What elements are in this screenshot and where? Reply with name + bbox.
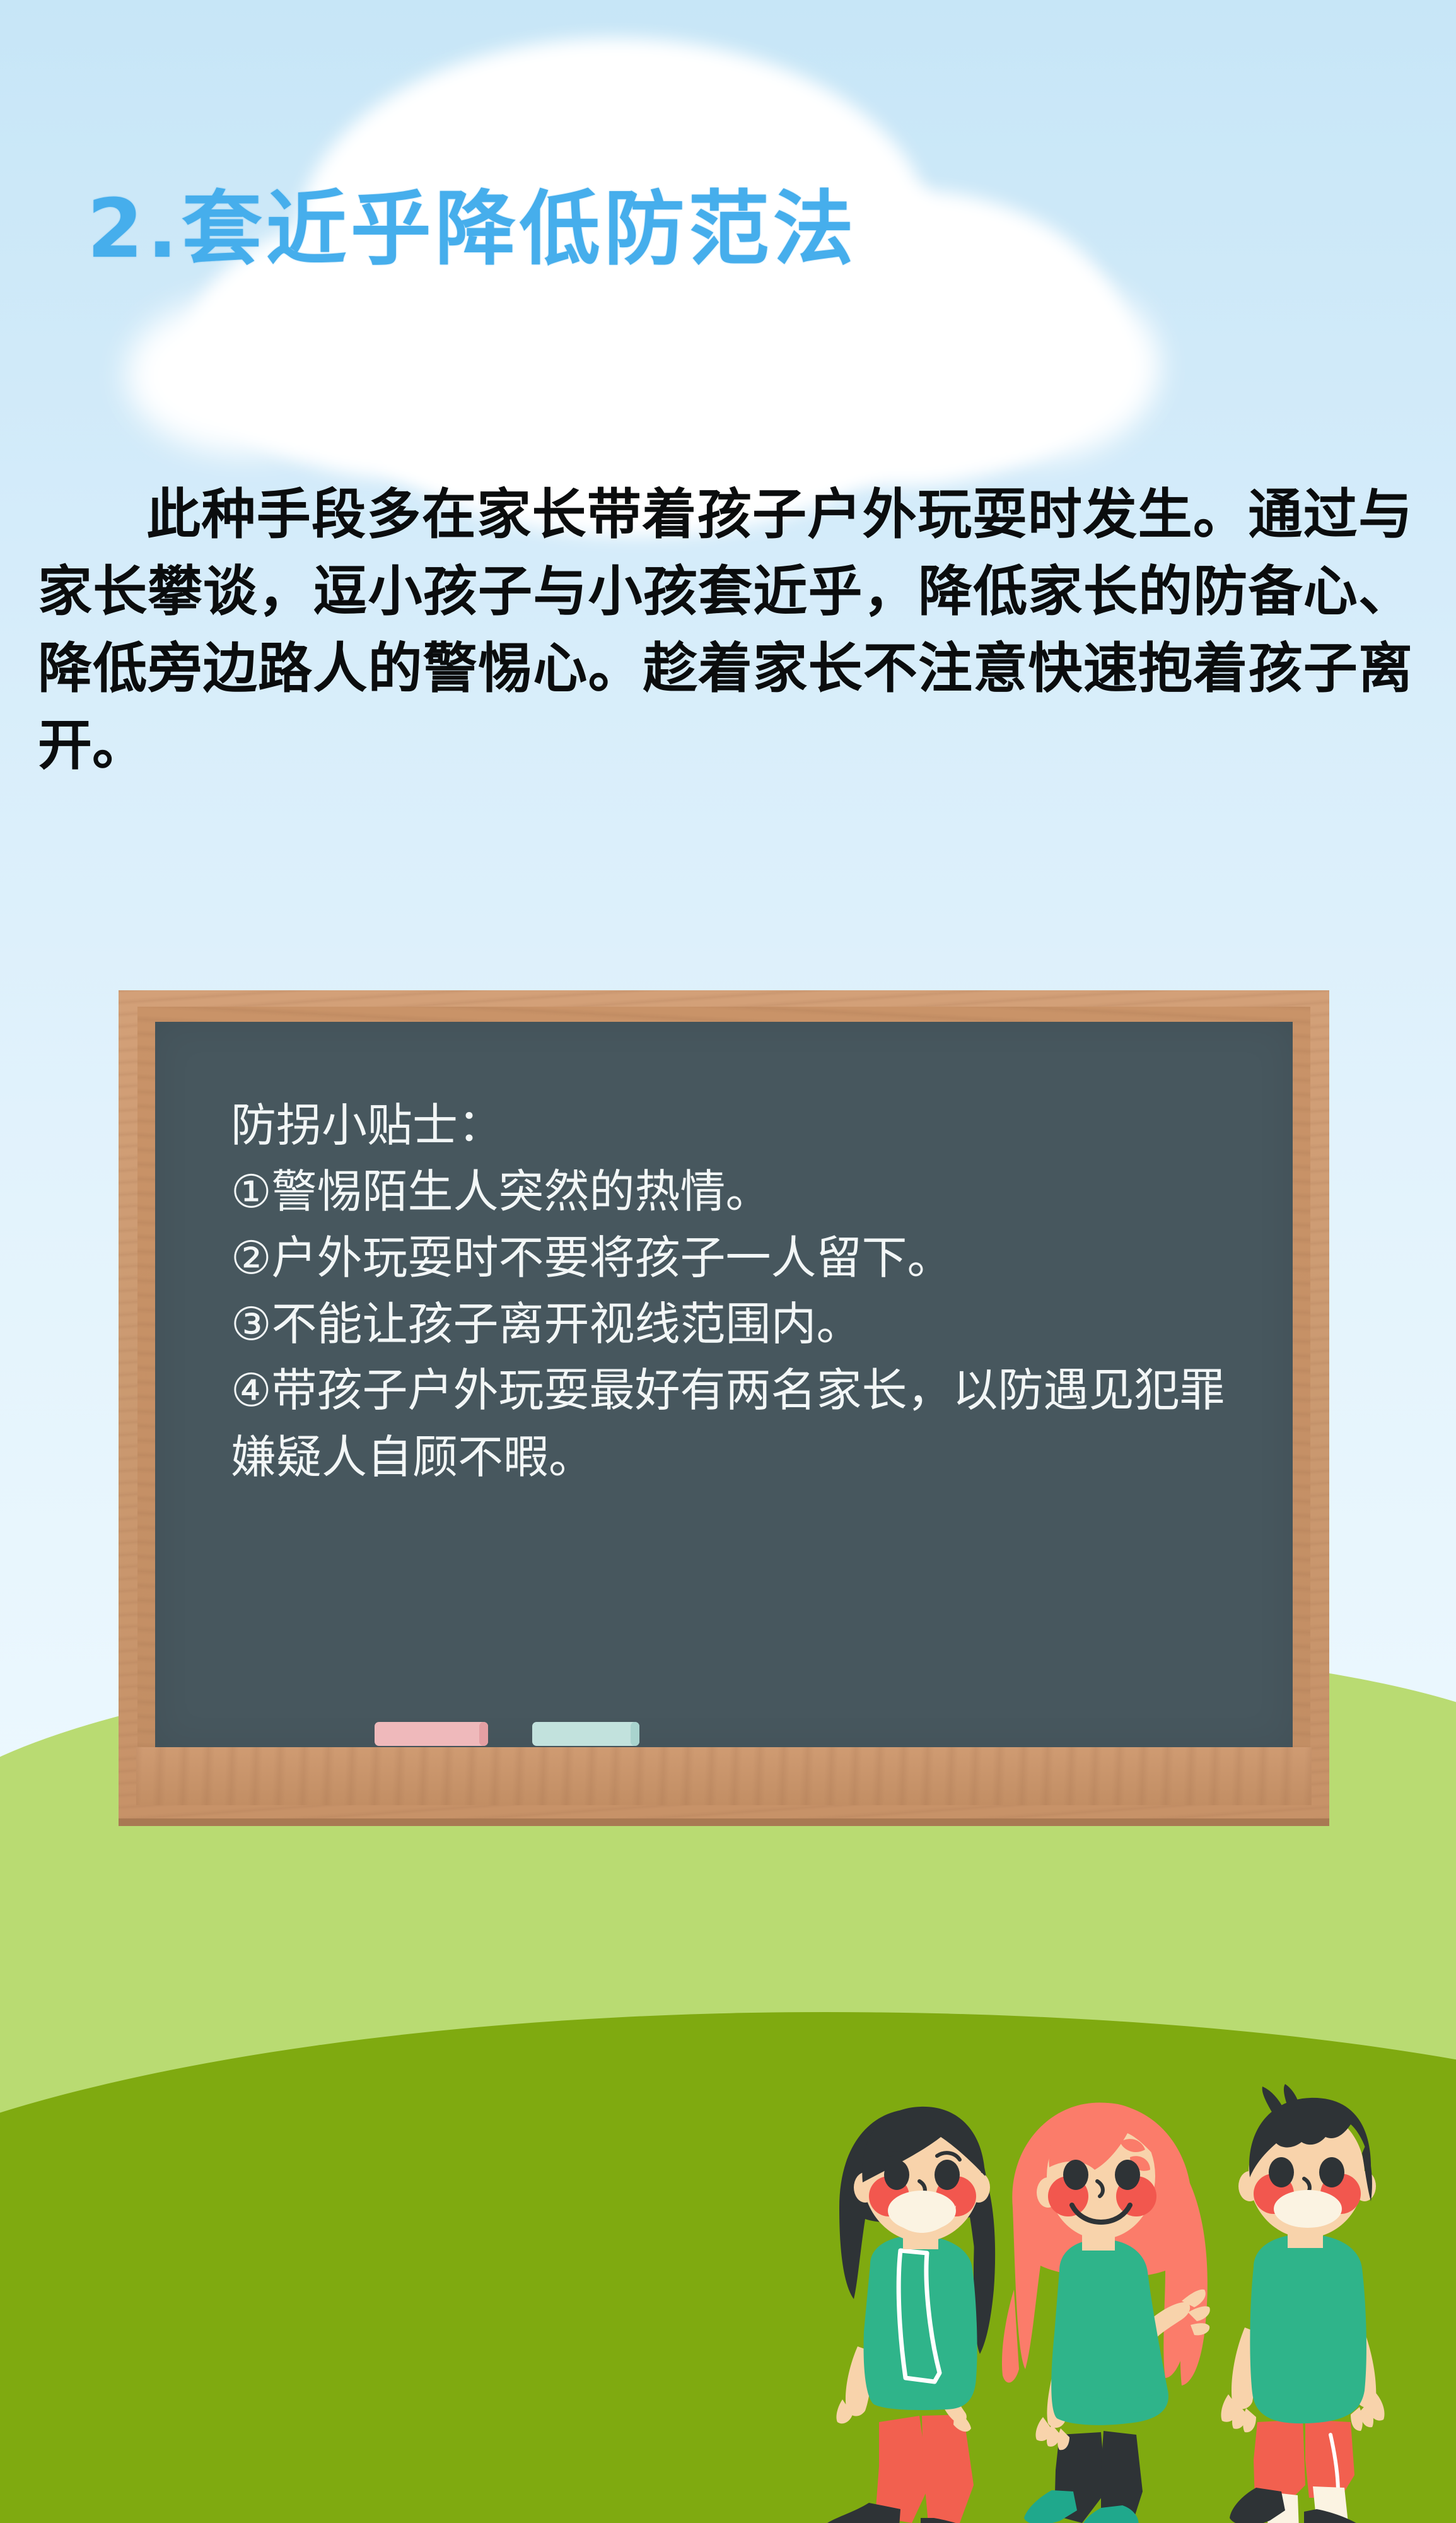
blackboard: 防拐小贴士： ①警惕陌生人突然的热情。 ②户外玩耍时不要将孩子一人留下。 ③不能… (119, 990, 1329, 1823)
blackboard-chalk-tray (136, 1747, 1312, 1805)
blackboard-tip-4: ④带孩子户外玩耍最好有两名家长，以防遇见犯罪嫌疑人自顾不暇。 (231, 1357, 1249, 1490)
children-svg (805, 2081, 1456, 2523)
pink-chalk-icon (375, 1722, 488, 1746)
blackboard-surface: 防拐小贴士： ①警惕陌生人突然的热情。 ②户外玩耍时不要将孩子一人留下。 ③不能… (155, 1022, 1293, 1748)
cloud-blob-far-right (895, 271, 1160, 460)
child-girl-black-hair (827, 2107, 995, 2523)
three-children-illustration (805, 2081, 1456, 2523)
page-title: 2.套近乎降低防范法 (87, 189, 858, 270)
chalk-group (155, 1719, 1293, 1746)
blackboard-tip-3: ③不能让孩子离开视线范围内。 (231, 1291, 1249, 1357)
blue-chalk-cap (631, 1722, 639, 1746)
child-boy-black-hair (1221, 2084, 1384, 2523)
blue-chalk-icon (532, 1722, 639, 1746)
blackboard-tip-1: ①警惕陌生人突然的热情。 (231, 1159, 1249, 1225)
blackboard-tip-2: ②户外玩耍时不要将孩子一人留下。 (231, 1225, 1249, 1291)
child-girl-curly-red-hair (1002, 2103, 1210, 2523)
cloud-blob-far-left (126, 296, 366, 454)
poster-canvas: 2.套近乎降低防范法 此种手段多在家长带着孩子户外玩耍时发生。通过与家长攀谈，逗… (0, 0, 1456, 2523)
pink-chalk-cap (479, 1722, 488, 1746)
body-paragraph: 此种手段多在家长带着孩子户外玩耍时发生。通过与家长攀谈，逗小孩子与小孩套近乎，降… (38, 476, 1412, 784)
blackboard-wooden-frame: 防拐小贴士： ①警惕陌生人突然的热情。 ②户外玩耍时不要将孩子一人留下。 ③不能… (119, 990, 1329, 1823)
blackboard-heading: 防拐小贴士： (231, 1092, 1249, 1159)
blackboard-text: 防拐小贴士： ①警惕陌生人突然的热情。 ②户外玩耍时不要将孩子一人留下。 ③不能… (231, 1092, 1249, 1490)
